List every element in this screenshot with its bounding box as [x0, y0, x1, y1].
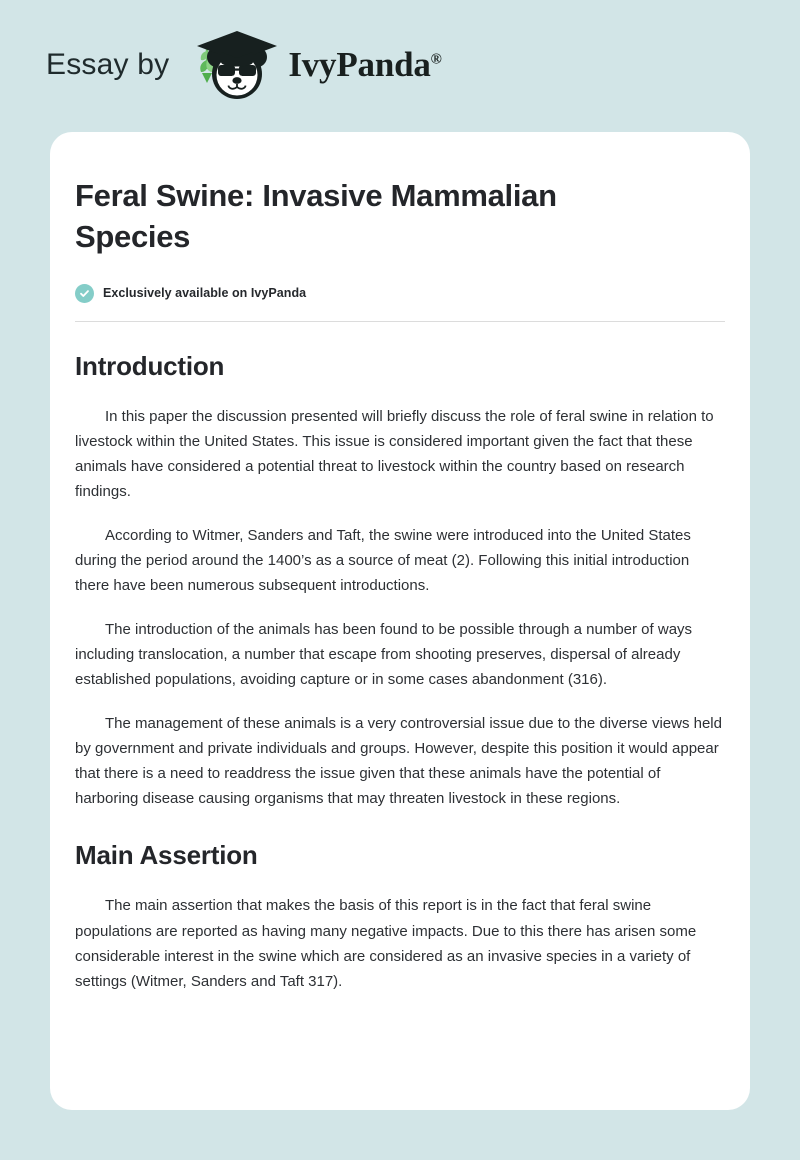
section-main-assertion: Main Assertion The main assertion that m…: [75, 840, 725, 993]
wordmark-text: IvyPanda: [288, 45, 430, 84]
title-divider: [75, 321, 725, 322]
check-circle-icon: [75, 284, 94, 303]
section-heading: Main Assertion: [75, 840, 725, 871]
section-heading: Introduction: [75, 351, 725, 382]
site-header: Essay by: [0, 0, 800, 132]
ivypanda-logo[interactable]: IvyPanda®: [185, 29, 441, 103]
brand-lockup[interactable]: Essay by: [46, 29, 442, 103]
paragraph: The management of these animals is a ver…: [75, 711, 725, 811]
paragraph: The introduction of the animals has been…: [75, 617, 725, 692]
paragraph: The main assertion that makes the basis …: [75, 893, 725, 993]
ivypanda-wordmark: IvyPanda®: [288, 47, 441, 85]
paragraph: In this paper the discussion presented w…: [75, 404, 725, 504]
page-title: Feral Swine: Invasive Mammalian Species: [75, 176, 635, 258]
section-introduction: Introduction In this paper the discussio…: [75, 351, 725, 812]
exclusive-badge-label: Exclusively available on IvyPanda: [103, 286, 306, 300]
paragraph: According to Witmer, Sanders and Taft, t…: [75, 523, 725, 598]
essay-by-label: Essay by: [46, 50, 169, 82]
exclusive-badge: Exclusively available on IvyPanda: [75, 284, 725, 303]
panda-graduate-logo-icon: [185, 29, 281, 103]
essay-card: Feral Swine: Invasive Mammalian Species …: [50, 132, 750, 1110]
registered-trademark-mark: ®: [431, 51, 442, 67]
